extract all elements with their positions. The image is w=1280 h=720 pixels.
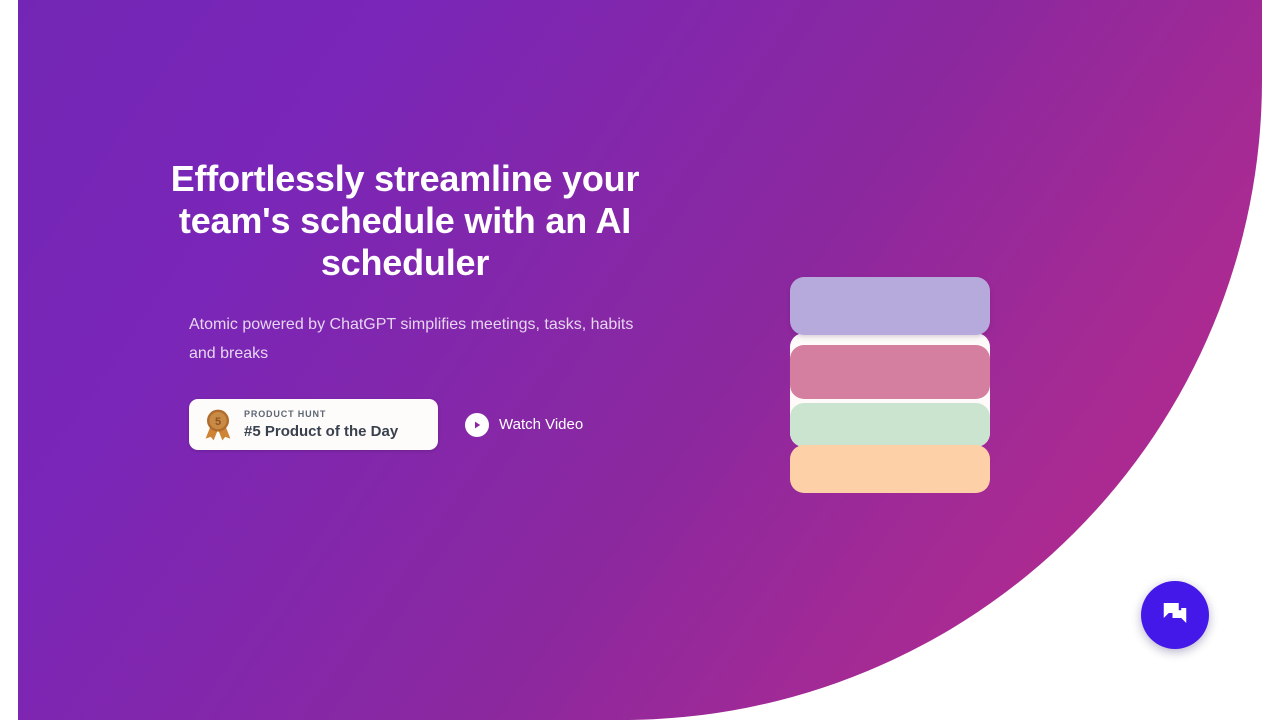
chat-widget-button[interactable] (1141, 581, 1209, 649)
card-peach[interactable] (790, 445, 990, 493)
svg-text:5: 5 (215, 416, 221, 428)
watch-video-label: Watch Video (499, 415, 583, 435)
page-root: Effortlessly streamline your team's sche… (0, 0, 1280, 720)
hero-panel: Effortlessly streamline your team's sche… (18, 0, 1262, 720)
card-lavender[interactable] (790, 277, 990, 335)
page-title: Effortlessly streamline your team's sche… (170, 158, 640, 284)
card-mint[interactable] (790, 403, 990, 447)
card-pink[interactable] (790, 345, 990, 399)
product-hunt-badge[interactable]: 5 PRODUCT HUNT #5 Product of the Day (189, 399, 438, 450)
medal-icon: 5 (203, 409, 233, 441)
product-hunt-text: PRODUCT HUNT #5 Product of the Day (244, 408, 398, 441)
product-hunt-kicker: PRODUCT HUNT (244, 408, 398, 420)
forum-chat-icon (1160, 598, 1190, 633)
cta-row: 5 PRODUCT HUNT #5 Product of the Day Wat… (189, 399, 583, 450)
hero-subtitle: Atomic powered by ChatGPT simplifies mee… (170, 310, 640, 368)
watch-video-button[interactable]: Watch Video (465, 413, 583, 437)
product-hunt-title: #5 Product of the Day (244, 422, 398, 441)
play-circle-icon (465, 413, 489, 437)
card-stack (790, 277, 990, 493)
hero-copy: Effortlessly streamline your team's sche… (170, 158, 640, 368)
